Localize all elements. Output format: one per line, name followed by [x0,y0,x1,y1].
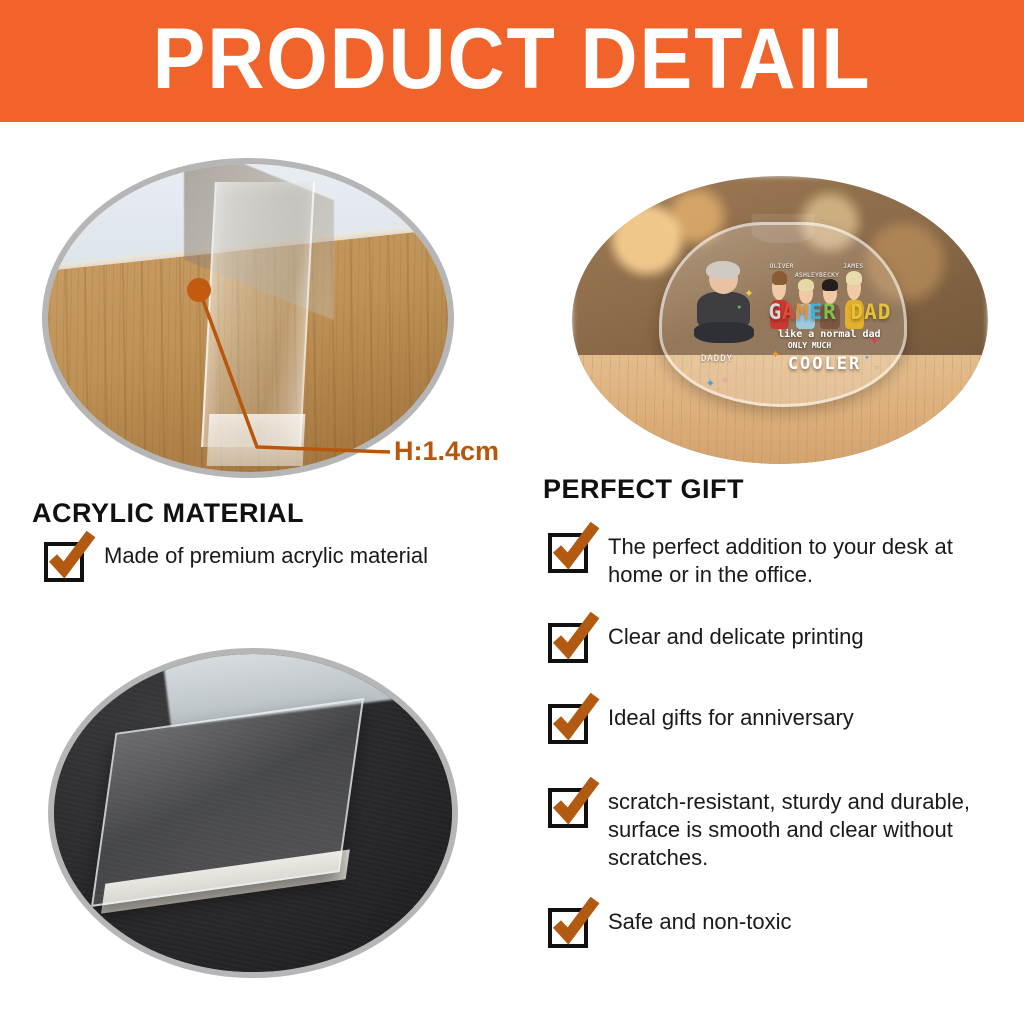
bullet-item: Safe and non-toxic [548,908,791,948]
plaque-title-letter: AD [864,300,891,324]
controller-shaped-plaque: DADDY OLIVER ASHLEY [659,222,906,407]
checkbox[interactable] [548,704,588,744]
bullet-text: Made of premium acrylic material [104,542,428,570]
checkbox[interactable] [548,908,588,948]
section-title-perfect-gift: PERFECT GIFT [543,474,744,505]
dad-hair [706,261,740,279]
page-title: PRODUCT DETAIL [41,0,983,122]
plaque-title-letter: E [809,300,823,324]
bullet-text: Clear and delicate printing [608,623,864,651]
bullet-item: scratch-resistant, sturdy and durable, s… [548,788,1008,872]
checkbox[interactable] [44,542,84,582]
sparkle-icon: ● [737,304,741,311]
acrylic-block [201,182,315,447]
photo-scene-thickness [48,164,448,472]
kid-hair [846,271,862,285]
plaque-title-letter: R [823,300,837,324]
plaque-title-letter: A [782,300,796,324]
plaque-subtitle-1: like a normal dad [778,329,880,340]
sparkle-icon: ○ [875,364,880,372]
plaque-title-letter: G [769,300,783,324]
check-icon [548,613,600,665]
bullet-item: Ideal gifts for anniversary [548,704,854,744]
product-detail-page: PRODUCT DETAIL [0,0,1024,1024]
bullet-text: Ideal gifts for anniversary [608,704,854,732]
kid-hair [822,279,838,291]
bullet-item: The perfect addition to your desk at hom… [548,533,1008,589]
kid-name-4: JAMES [843,263,863,270]
checkbox[interactable] [548,533,588,573]
plaque-title-letter: D [837,300,864,324]
checkbox[interactable] [548,788,588,828]
sparkle-icon: ● [865,355,869,361]
check-icon [548,778,600,830]
kid-hair [772,271,788,285]
bullet-text: Safe and non-toxic [608,908,791,936]
photo-acrylic-thickness [42,158,454,478]
kid-name-2: ASHLEY [795,272,819,279]
dad-label: DADDY [701,354,733,364]
plaque-title: GAMER DAD [769,300,892,324]
bullet-text: scratch-resistant, sturdy and durable, s… [608,788,1008,872]
bullet-item: Clear and delicate printing [548,623,864,663]
check-icon [548,898,600,950]
sparkle-icon: ✦ [744,289,753,300]
bullet-item: Made of premium acrylic material [44,542,428,582]
sparkle-icon: ✦ [771,350,780,361]
check-icon [44,532,96,584]
photo-scene-plaque: DADDY OLIVER ASHLEY [572,176,988,464]
kid-name-1: OLIVER [770,263,794,270]
plaque-subtitle-3: COOLER [788,354,861,374]
section-title-acrylic-material: ACRYLIC MATERIAL [32,498,304,529]
sparkle-icon: ✦ [706,379,715,390]
check-icon [548,694,600,746]
photo-scene-slab [54,654,452,972]
plaque-title-letter: M [796,300,810,324]
kid-hair [798,279,814,291]
check-icon [548,523,600,575]
photo-gamer-dad-plaque: DADDY OLIVER ASHLEY [572,176,988,464]
acrylic-block-base [207,414,306,466]
header-banner: PRODUCT DETAIL [0,0,1024,122]
checkbox[interactable] [548,623,588,663]
sparkle-icon: ✦ [870,336,879,347]
thickness-label: H:1.4cm [394,436,499,467]
photo-acrylic-slab [48,648,458,978]
bullet-text: The perfect addition to your desk at hom… [608,533,1008,589]
plaque-subtitle-2: ONLY MUCH [788,341,831,350]
plaque-artwork: DADDY OLIVER ASHLEY [662,225,903,404]
dad-character [694,264,757,346]
dad-legs [694,322,754,343]
kid-name-3: BECKY [819,272,839,279]
sparkle-icon: ○ [723,377,727,384]
